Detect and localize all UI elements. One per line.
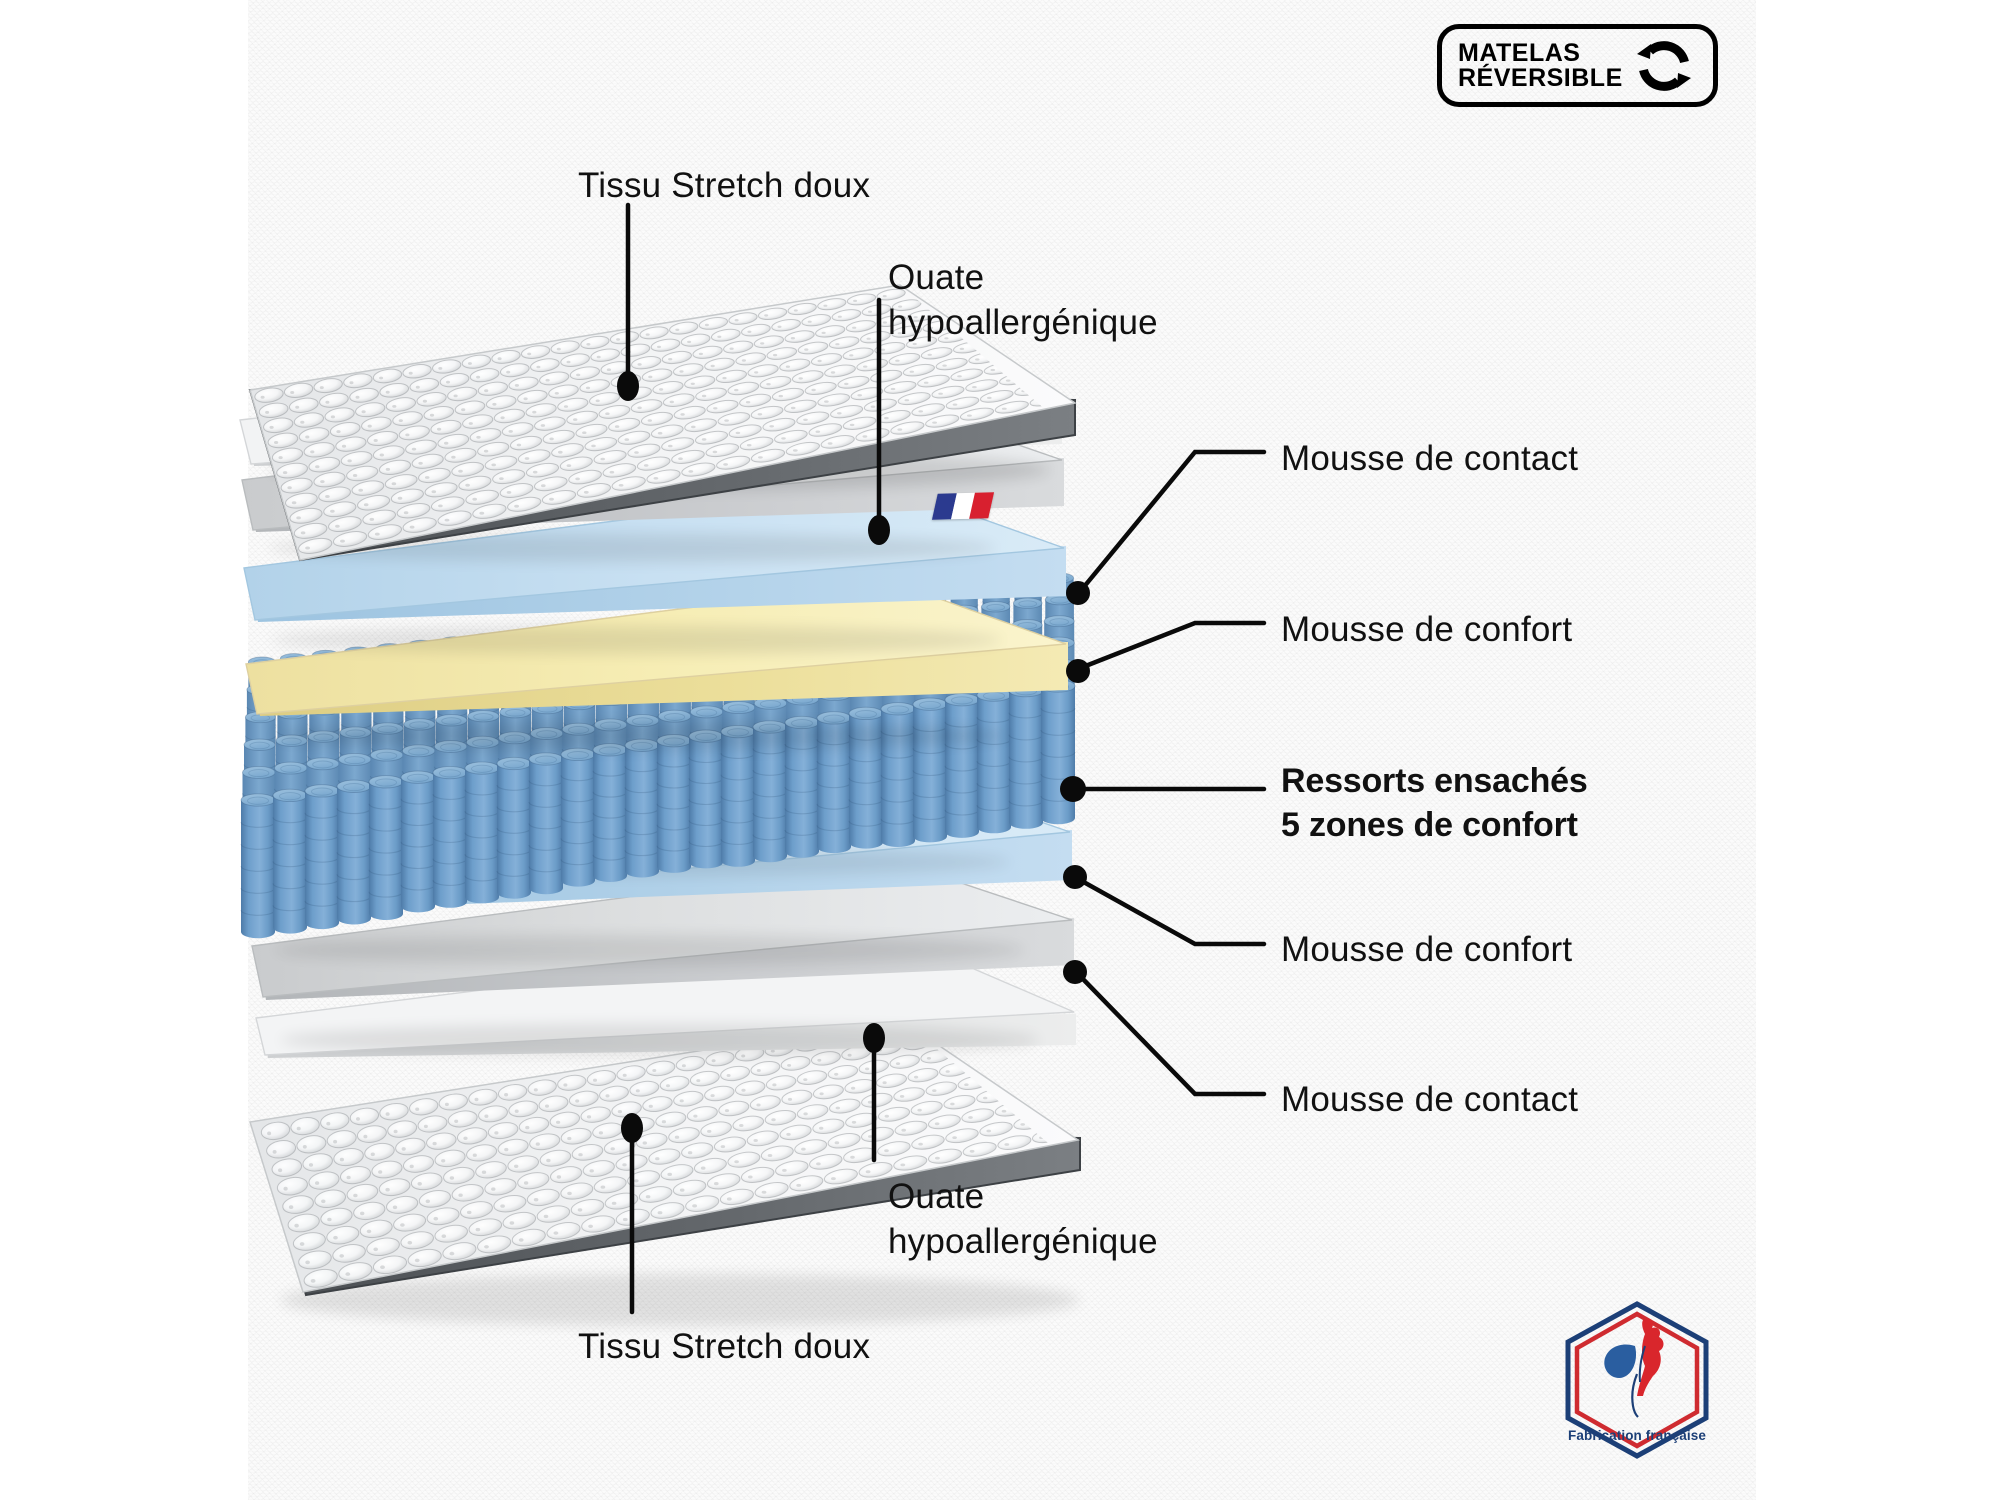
quilt-stitch <box>884 1149 889 1152</box>
quilt-stitch <box>754 371 758 373</box>
quilt-stitch <box>588 1225 593 1228</box>
quilt-stitch <box>509 430 513 433</box>
quilt-stitch <box>747 444 752 446</box>
quilt-stitch <box>467 1211 472 1214</box>
quilt-stitch <box>437 428 441 431</box>
quilt-stitch <box>305 547 310 550</box>
quilt-stitch <box>270 426 274 429</box>
quilt-stitch <box>863 435 868 437</box>
quilt-stitch <box>794 309 798 311</box>
quilt-stitch <box>666 1084 670 1087</box>
rooster-blue <box>1604 1345 1636 1379</box>
quilt-stitch <box>370 518 375 521</box>
quilt-stitch <box>646 333 650 335</box>
quilt-stitch <box>380 1265 385 1269</box>
quilt-stitch <box>924 382 929 384</box>
french-flag-chip <box>932 492 994 519</box>
quilt-stitch <box>691 383 695 385</box>
quilt-stitch <box>696 1079 700 1082</box>
quilt-stitch <box>618 1110 622 1113</box>
dot-mousse-confort-top <box>1066 659 1090 683</box>
quilt-stitch <box>1004 1143 1009 1146</box>
quilt-stitch <box>386 1112 390 1116</box>
quilt-stitch <box>787 1064 791 1067</box>
quilt-stitch <box>600 458 605 461</box>
quilt-stitch <box>748 1176 753 1179</box>
quilt-stitch <box>711 1094 715 1097</box>
quilt-stitch <box>584 491 589 494</box>
quilt-stitch <box>623 1074 627 1077</box>
quilt-stitch <box>468 362 472 365</box>
mattress-layers-diagram: MATELAS RÉVERSIBLE Fabrication française <box>0 0 2000 1500</box>
quilt-stitch <box>764 314 768 316</box>
quilt-stitch <box>294 1224 298 1228</box>
quilt-stitch <box>333 1236 338 1240</box>
quilt-stitch <box>504 1148 508 1151</box>
quilt-stitch <box>938 393 943 395</box>
quilt-stitch <box>820 1092 824 1095</box>
quilt-stitch <box>848 1054 852 1057</box>
quilt-stitch <box>607 368 611 371</box>
quilt-stitch <box>371 1153 375 1157</box>
quilt-stitch <box>804 348 808 350</box>
quilt-stitch <box>340 540 345 543</box>
quilt-stitch <box>544 1215 549 1218</box>
quilt-stitch <box>484 450 488 453</box>
quilt-stitch <box>265 411 269 414</box>
quilt-stitch <box>850 1156 855 1159</box>
quilt-stitch <box>793 449 798 451</box>
pocket-spring <box>337 780 371 924</box>
quilt-stitch <box>549 498 554 501</box>
quilt-stitch <box>871 406 876 408</box>
quilt-stitch <box>612 1202 617 1205</box>
quilt-stitch <box>399 419 403 422</box>
callout-label-mousse-confort-top: Mousse de confort <box>1281 608 1572 653</box>
quilt-stitch <box>331 415 335 418</box>
quilt-stitch <box>727 1074 731 1077</box>
pocket-spring <box>273 789 307 933</box>
callout-label-ouate-top: Ouate hypoallergénique <box>888 256 1158 346</box>
quilt-stitch <box>625 438 630 441</box>
quilt-stitch <box>534 1198 539 1201</box>
quilt-stitch <box>1006 380 1011 382</box>
quilt-stitch <box>901 1129 906 1132</box>
quilt-stitch <box>586 387 590 390</box>
quilt-stitch <box>837 412 842 414</box>
quilt-stitch <box>766 383 770 385</box>
quilt-stitch <box>432 490 437 493</box>
quilt-stitch <box>687 341 691 343</box>
quilt-stitch <box>691 426 696 429</box>
quilt-stitch <box>458 470 463 473</box>
quilt-stitch <box>881 349 885 351</box>
quilt-stitch <box>402 1147 406 1151</box>
quilt-stitch <box>534 1088 538 1091</box>
quilt-stitch <box>575 1099 579 1102</box>
layer-tissu-stretch-bottom <box>250 1019 1080 1326</box>
quilt-stitch <box>273 1150 277 1154</box>
quilt-stitch <box>491 464 496 467</box>
pocket-spring <box>465 762 499 903</box>
quilt-stitch <box>450 1176 454 1179</box>
quilt-stitch <box>960 348 964 350</box>
quilt-stitch <box>838 316 842 318</box>
quilt-stitch <box>605 412 609 415</box>
quilt-stitch <box>567 1137 571 1140</box>
quilt-stitch <box>412 448 416 451</box>
quilt-stitch <box>928 354 932 356</box>
fabrication-francaise-logo: Fabrication française <box>1557 1300 1717 1460</box>
quilt-stitch <box>818 360 822 362</box>
quilt-stitch <box>952 1136 957 1139</box>
quilt-stitch <box>476 376 480 379</box>
quilt-stitch <box>972 386 977 388</box>
dot-tissu-bottom <box>621 1113 643 1143</box>
quilt-stitch <box>394 1130 398 1134</box>
quilt-stitch <box>788 1098 792 1101</box>
quilt-stitch <box>983 1097 987 1100</box>
quilt-stitch <box>536 1142 540 1145</box>
quilt-stitch <box>301 531 306 534</box>
reverse-arrows-icon <box>1633 36 1695 96</box>
quilt-stitch <box>817 1059 821 1062</box>
quilt-stitch <box>786 366 790 368</box>
quilt-stitch <box>675 1136 679 1139</box>
quilt-stitch <box>702 395 706 397</box>
quilt-stitch <box>1002 408 1007 410</box>
quilt-stitch <box>643 1141 647 1144</box>
quilt-stitch <box>942 365 946 367</box>
quilt-stitch <box>519 1238 524 1241</box>
quilt-stitch <box>549 438 553 441</box>
dot-ouate-bottom <box>863 1023 885 1053</box>
callout-label-ressorts-ensaches: Ressorts ensachés 5 zones de confort <box>1281 760 1588 847</box>
quilt-stitch <box>315 1181 319 1185</box>
quilt-stitch <box>563 1083 567 1086</box>
quilt-stitch <box>442 1234 447 1238</box>
quilt-stitch <box>760 342 764 344</box>
pocket-spring <box>881 703 915 847</box>
quilt-stitch <box>409 372 413 375</box>
quilt-stitch <box>896 1062 900 1065</box>
quilt-stitch <box>541 424 545 427</box>
quilt-stitch <box>741 1089 745 1092</box>
quilt-stitch <box>445 1103 449 1106</box>
quilt-stitch <box>757 1069 761 1072</box>
quilt-stitch <box>504 1093 508 1096</box>
quilt-stitch <box>424 1125 428 1128</box>
quilt-stitch <box>791 337 795 339</box>
pocket-spring <box>625 739 659 877</box>
quilt-stitch <box>476 436 480 439</box>
quilt-stitch <box>601 1186 606 1189</box>
quilt-stitch <box>680 1189 685 1192</box>
quilt-stitch <box>801 1148 806 1151</box>
quilt-stitch <box>506 371 510 374</box>
quilt-stitch <box>736 432 741 434</box>
quilt-stitch <box>380 454 384 457</box>
quilt-stitch <box>556 1121 560 1124</box>
quilt-stitch <box>336 430 340 433</box>
dot-tissu-top <box>617 371 639 401</box>
quilt-stitch <box>835 1141 840 1144</box>
pocket-spring <box>913 698 947 842</box>
quilt-stitch <box>586 343 590 346</box>
quilt-stitch <box>578 1208 583 1211</box>
quilt-stitch <box>418 462 422 465</box>
quilt-stitch <box>515 384 519 387</box>
quilt-stitch <box>514 1165 518 1168</box>
quilt-stitch <box>713 407 717 409</box>
quilt-stitch <box>637 407 641 410</box>
quilt-stitch <box>283 471 287 474</box>
quilt-stitch <box>968 1116 973 1119</box>
quilt-stitch <box>297 1127 301 1131</box>
quilt-stitch <box>610 471 615 474</box>
quilt-stitch <box>742 359 746 361</box>
quilt-stitch <box>498 357 502 360</box>
quilt-stitch <box>857 394 862 396</box>
dot-ressorts <box>1060 776 1086 802</box>
quilt-stitch <box>438 367 442 370</box>
quilt-stitch <box>771 1118 775 1121</box>
quilt-stitch <box>482 1171 486 1174</box>
quilt-stitch <box>408 1241 413 1245</box>
quilt-stitch <box>333 1140 337 1144</box>
quilt-stitch <box>865 1068 869 1071</box>
quilt-stitch <box>803 419 808 421</box>
quilt-stitch <box>392 405 396 408</box>
quilt-stitch <box>680 1099 684 1102</box>
pocket-spring <box>657 735 691 873</box>
quilt-stitch <box>315 465 319 468</box>
quilt-stitch <box>883 295 887 297</box>
quilt-stitch <box>670 401 674 404</box>
quilt-stitch <box>295 406 299 409</box>
quilt-stitch <box>705 324 709 326</box>
quilt-stitch <box>917 1109 921 1112</box>
quilt-stitch <box>325 401 329 404</box>
quilt-stitch <box>950 1103 954 1106</box>
quilt-stitch <box>309 1163 313 1167</box>
pocket-spring <box>945 694 979 838</box>
quilt-stitch <box>735 319 739 321</box>
quilt-stitch <box>373 1248 378 1252</box>
quilt-stitch <box>799 377 803 379</box>
quilt-stitch <box>418 1182 422 1186</box>
callout-label-mousse-confort-bot: Mousse de confort <box>1281 928 1572 973</box>
quilt-stitch <box>746 401 750 403</box>
quilt-stitch <box>701 1167 706 1170</box>
quilt-stitch <box>688 1151 692 1154</box>
quilt-stitch <box>791 407 796 409</box>
quilt-stitch <box>434 1217 439 1221</box>
quilt-stitch <box>475 1098 479 1101</box>
quilt-stitch <box>517 444 521 447</box>
quilt-stitch <box>360 1212 364 1216</box>
quilt-stitch <box>499 477 504 480</box>
quilt-stitch <box>883 321 887 323</box>
quilt-stitch <box>668 358 672 360</box>
quilt-stitch <box>274 441 278 444</box>
quilt-stitch <box>469 422 473 425</box>
pocket-spring <box>369 776 403 920</box>
quilt-stitch <box>458 1194 462 1197</box>
quilt-stitch <box>823 305 827 307</box>
quilt-stitch <box>454 1120 458 1123</box>
quilt-stitch <box>541 484 546 487</box>
quilt-stitch <box>727 1197 732 1200</box>
quilt-stitch <box>819 1127 823 1130</box>
quilt-stitch <box>722 377 726 379</box>
quilt-stitch <box>884 417 889 419</box>
quilt-stitch <box>707 1130 711 1133</box>
quilt-stitch <box>900 1095 904 1098</box>
quilt-stitch <box>591 445 596 448</box>
quilt-stitch <box>438 505 443 508</box>
quilt-stitch <box>545 1105 549 1108</box>
quilt-stitch <box>891 388 896 390</box>
quilt-stitch <box>501 416 505 419</box>
quilt-stitch <box>634 1179 639 1182</box>
quilt-stitch <box>325 495 330 498</box>
quilt-stitch <box>932 422 937 424</box>
logo-caption: Fabrication française <box>1557 1428 1717 1443</box>
quilt-stitch <box>885 1115 889 1118</box>
quilt-stitch <box>347 1176 351 1180</box>
quilt-stitch <box>723 463 728 466</box>
quilt-stitch <box>786 1133 790 1136</box>
quilt-stitch <box>658 1211 663 1214</box>
quilt-stitch <box>803 1078 807 1081</box>
quilt-stitch <box>484 1115 488 1118</box>
quilt-stitch <box>405 434 409 437</box>
dot-mousse-contact-bot <box>1063 960 1087 984</box>
quilt-stitch <box>648 419 652 422</box>
quilt-stitch <box>644 464 649 467</box>
quilt-stitch <box>345 1272 350 1276</box>
quilt-stitch <box>895 360 899 362</box>
quilt-stitch <box>289 1205 293 1209</box>
pocket-spring <box>977 689 1011 833</box>
quilt-stitch <box>491 1187 495 1190</box>
quilt-stitch <box>445 519 450 522</box>
quilt-stitch <box>835 343 839 345</box>
quilt-stitch <box>822 332 826 334</box>
quilt-stitch <box>515 1110 519 1113</box>
quilt-stitch <box>932 1089 936 1092</box>
quilt-stitch <box>386 391 390 394</box>
quilt-stitch <box>655 1157 659 1160</box>
pocket-spring <box>593 744 627 882</box>
quilt-stitch <box>587 1115 591 1118</box>
quilt-stitch <box>423 400 427 403</box>
quilt-stitch <box>347 459 351 462</box>
quilt-stitch <box>305 1261 310 1265</box>
quilt-stitch <box>368 425 372 428</box>
dot-mousse-contact-top <box>1066 581 1090 605</box>
quilt-stitch <box>866 1170 871 1173</box>
quilt-stitch <box>578 1153 582 1156</box>
quilt-stitch <box>367 1230 372 1234</box>
quilt-stitch <box>768 1154 773 1157</box>
quilt-stitch <box>725 1109 729 1112</box>
quilt-stitch <box>756 1104 760 1107</box>
quilt-stitch <box>717 336 721 338</box>
quilt-stitch <box>356 396 360 399</box>
quilt-stitch <box>410 526 415 529</box>
quilt-stitch <box>657 346 661 348</box>
quilt-stitch <box>296 516 301 519</box>
quilt-stitch <box>479 512 484 515</box>
quilt-stitch <box>935 1122 940 1125</box>
quilt-stitch <box>514 505 519 508</box>
quilt-stitch <box>711 365 715 367</box>
quilt-stitch <box>652 1069 656 1072</box>
quilt-stitch <box>379 377 383 380</box>
quilt-stitch <box>330 510 335 513</box>
quilt-stitch <box>335 525 340 528</box>
quilt-stitch <box>1002 1110 1007 1113</box>
quilt-stitch <box>758 413 763 415</box>
quilt-stitch <box>284 1187 288 1191</box>
quilt-stitch <box>310 450 314 453</box>
quilt-stitch <box>446 381 450 384</box>
quilt-stitch <box>646 1195 651 1198</box>
quilt-stitch <box>946 1070 950 1073</box>
quilt-stitch <box>851 1087 855 1090</box>
quilt-stitch <box>852 327 856 329</box>
quilt-stitch <box>867 338 871 340</box>
pocket-spring <box>497 757 531 898</box>
quilt-stitch <box>546 379 550 382</box>
quilt-stitch <box>680 413 684 416</box>
quilt-stitch <box>374 439 378 442</box>
quilt-stitch <box>392 482 397 485</box>
quilt-stitch <box>730 348 734 350</box>
quilt-stitch <box>433 1142 437 1145</box>
quilt-stitch <box>385 1188 389 1192</box>
pocket-spring <box>433 766 467 907</box>
matelas-reversible-badge: MATELAS RÉVERSIBLE <box>1437 24 1718 107</box>
quilt-stitch <box>358 489 363 492</box>
quilt-stitch <box>473 1154 477 1157</box>
quilt-stitch <box>918 410 923 412</box>
quilt-stitch <box>340 1158 344 1162</box>
quilt-stitch <box>342 445 346 448</box>
quilt-stitch <box>326 1122 330 1126</box>
badge-line-2: RÉVERSIBLE <box>1458 66 1623 91</box>
quilt-stitch <box>754 1139 758 1142</box>
pocket-spring <box>1041 680 1075 824</box>
quilt-stitch <box>831 1177 836 1180</box>
quilt-stitch <box>816 431 821 433</box>
quilt-stitch <box>400 1223 405 1227</box>
quilt-stitch <box>615 425 619 428</box>
quilt-stitch <box>261 396 265 399</box>
quilt-stitch <box>935 1157 940 1160</box>
quilt-stitch <box>476 1228 481 1231</box>
quilt-stitch <box>305 436 309 439</box>
quilt-stitch <box>678 457 683 460</box>
quilt-stitch <box>398 497 403 500</box>
quilt-stitch <box>649 1105 653 1108</box>
quilt-stitch <box>1020 1123 1025 1126</box>
quilt-stitch <box>564 405 568 408</box>
quilt-stitch <box>410 1165 414 1169</box>
quilt-stitch <box>267 1132 271 1136</box>
